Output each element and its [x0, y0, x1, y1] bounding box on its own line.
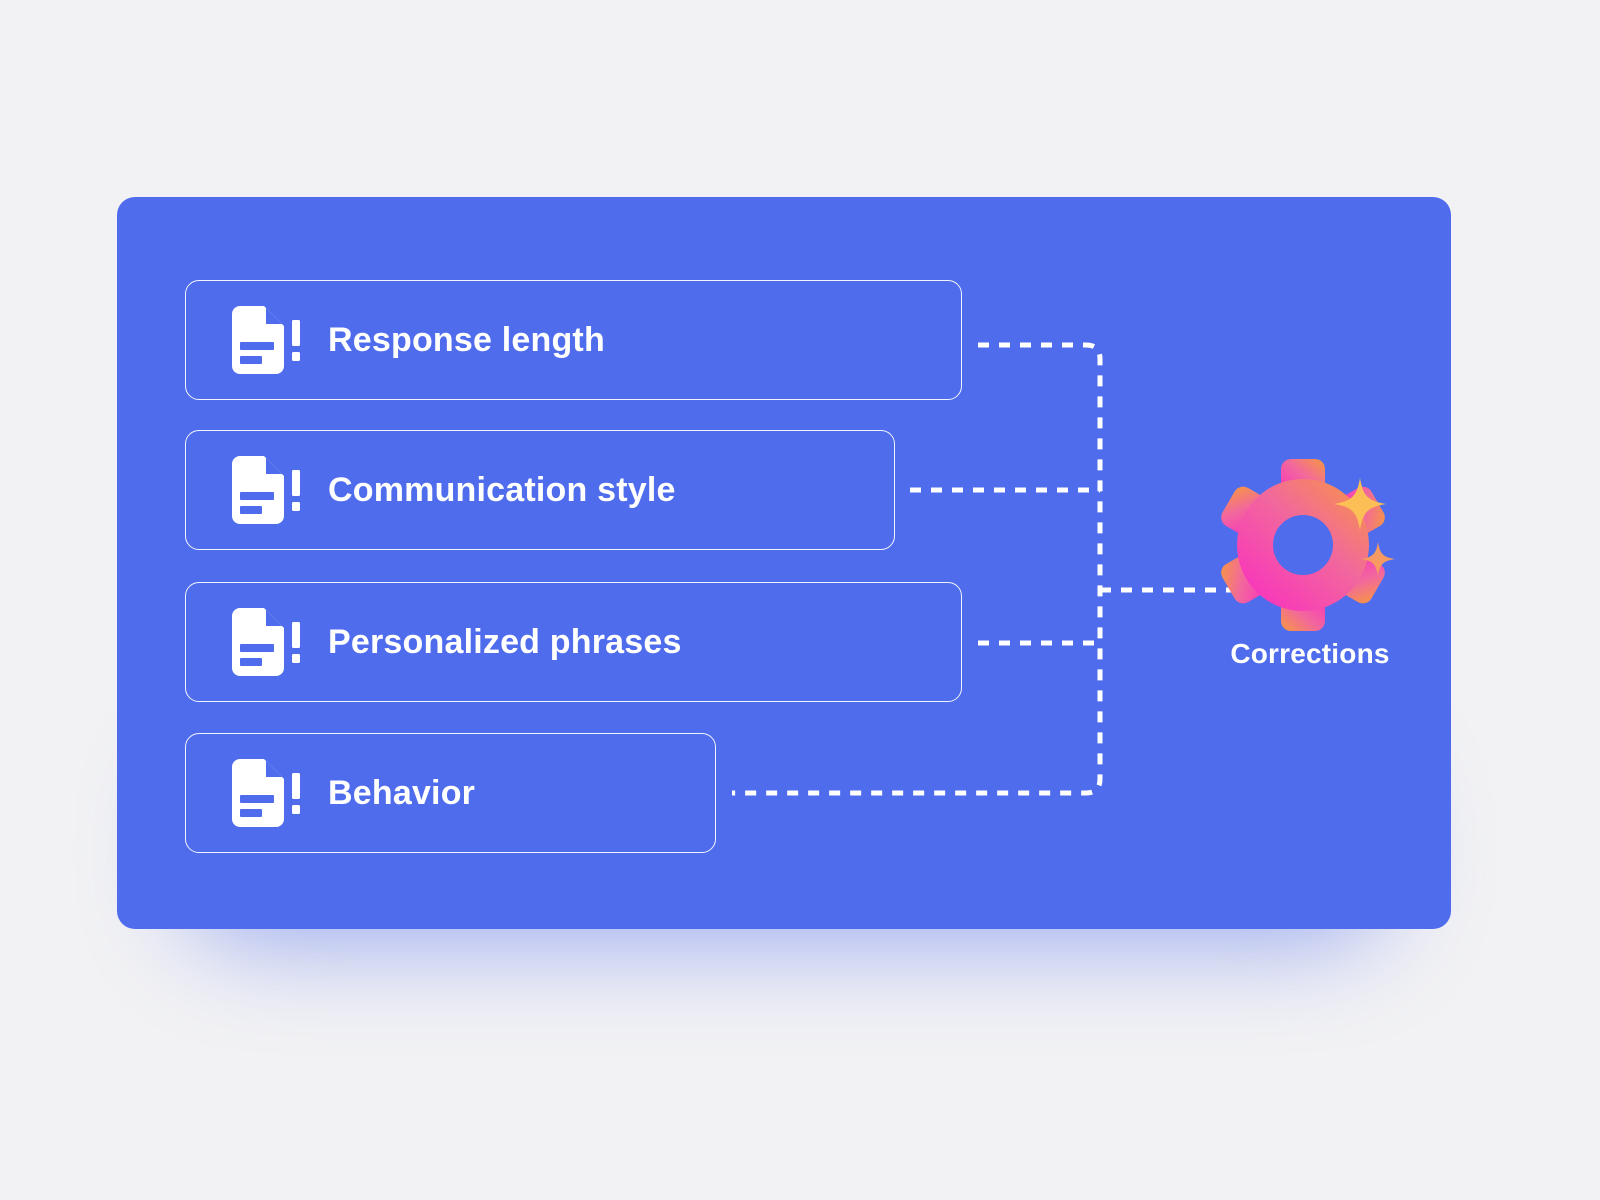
card-response-length[interactable]: Response length	[185, 280, 962, 400]
card-label: Behavior	[328, 776, 475, 810]
card-communication-style[interactable]: Communication style	[185, 430, 895, 550]
document-alert-icon	[226, 456, 308, 524]
document-alert-icon	[226, 759, 308, 827]
card-label: Response length	[328, 323, 605, 357]
card-label: Communication style	[328, 473, 676, 507]
card-behavior[interactable]: Behavior	[185, 733, 716, 853]
card-personalized-phrases[interactable]: Personalized phrases	[185, 582, 962, 702]
corrections-node[interactable]: Corrections	[1215, 455, 1405, 695]
corrections-label: Corrections	[1215, 640, 1405, 668]
document-alert-icon	[226, 306, 308, 374]
gear-icon	[1215, 455, 1405, 635]
diagram-canvas: Response length Communication style	[0, 0, 1600, 1200]
document-alert-icon	[226, 608, 308, 676]
card-label: Personalized phrases	[328, 625, 682, 659]
